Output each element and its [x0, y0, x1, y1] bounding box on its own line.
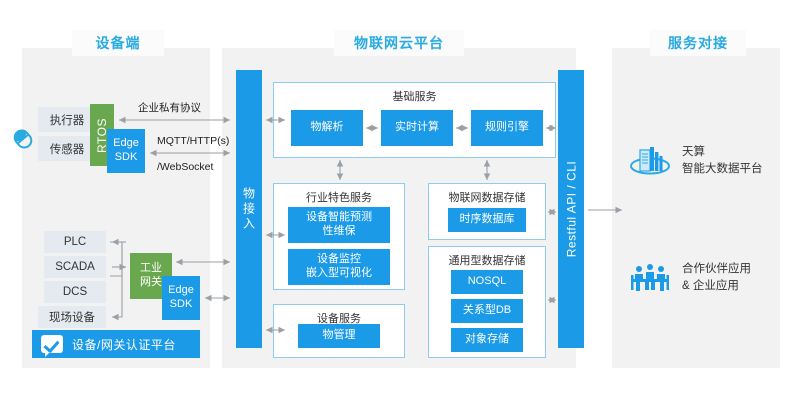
thing-access-label: 物接入 — [241, 187, 258, 232]
big-data-platform-icon — [628, 141, 672, 181]
restful-api-label: Restful API / CLI — [564, 161, 578, 258]
general-storage-item-0[interactable]: NOSQL — [451, 270, 523, 294]
service-row-0-text: 天算 智能大数据平台 — [682, 144, 763, 177]
device-chip-scada[interactable]: SCADA — [44, 256, 106, 278]
device-chip-dcs[interactable]: DCS — [44, 281, 106, 303]
service-row-0-line2: 智能大数据平台 — [682, 161, 763, 178]
service-row-1-line2: & 企业应用 — [682, 278, 751, 295]
device-service-item-0[interactable]: 物管理 — [298, 324, 380, 348]
basic-service-item-2[interactable]: 规则引擎 — [471, 110, 543, 146]
device-chip-plc[interactable]: PLC — [44, 231, 106, 253]
basic-service-item-1[interactable]: 实时计算 — [381, 110, 453, 146]
partner-application-icon — [628, 258, 672, 298]
service-row-0[interactable]: 天算 智能大数据平台 — [628, 138, 778, 184]
device-chip-field-device[interactable]: 现场设备 — [38, 306, 106, 328]
connection-label-mqtt-http: MQTT/HTTP(s) — [157, 135, 229, 147]
iot-data-storage-title: 物联网数据存储 — [429, 189, 545, 205]
basic-service-item-0[interactable]: 物解析 — [291, 110, 363, 146]
iot-data-storage-item-0[interactable]: 时序数据库 — [448, 208, 526, 232]
diagram-root: 设备端 物联网云平台 服务对接 执行器 传感器 RTOS Edge SDK PL… — [0, 0, 802, 411]
device-auth-platform-label: 设备/网关认证平台 — [72, 336, 176, 353]
edge-sdk-device-box[interactable]: Edge SDK — [107, 129, 145, 173]
industry-service-item-1[interactable]: 设备监控 嵌入型可视化 — [288, 249, 390, 285]
service-row-1-text: 合作伙伴应用 & 企业应用 — [682, 261, 751, 294]
general-storage-item-2[interactable]: 对象存储 — [451, 328, 523, 352]
service-row-1-line1: 合作伙伴应用 — [682, 261, 751, 278]
device-auth-platform-bar[interactable]: 设备/网关认证平台 — [32, 330, 200, 358]
industry-service-title: 行业特色服务 — [274, 189, 404, 205]
service-row-1[interactable]: 合作伙伴应用 & 企业应用 — [628, 255, 778, 301]
basic-service-title: 基础服务 — [274, 88, 555, 104]
sensor-pill-icon — [10, 126, 36, 152]
panel-service — [612, 48, 780, 368]
restful-api-bar[interactable]: Restful API / CLI — [558, 70, 584, 348]
thing-access-bar[interactable]: 物接入 — [236, 70, 262, 348]
general-storage-title: 通用型数据存储 — [429, 252, 545, 268]
connection-label-websocket: /WebSocket — [157, 161, 213, 173]
device-chip-actuator[interactable]: 执行器 — [38, 107, 96, 132]
connection-label-private-protocol: 企业私有协议 — [138, 100, 201, 115]
service-row-0-line1: 天算 — [682, 144, 763, 161]
device-chip-sensor[interactable]: 传感器 — [38, 136, 96, 161]
check-icon — [41, 335, 63, 353]
section-title-platform: 物联网云平台 — [334, 30, 464, 56]
general-storage-item-1[interactable]: 关系型DB — [451, 299, 523, 323]
edge-sdk-gateway-box[interactable]: Edge SDK — [162, 276, 200, 320]
industry-service-item-0[interactable]: 设备智能预测 性维保 — [288, 207, 390, 243]
section-title-service: 服务对接 — [650, 30, 746, 56]
section-title-device: 设备端 — [72, 30, 164, 56]
